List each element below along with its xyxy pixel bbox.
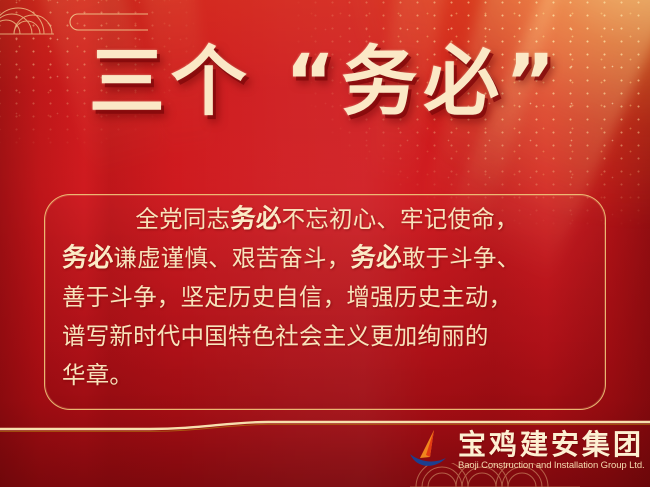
emphasis-wubi: 务必: [62, 243, 113, 273]
quote-line: 谱写新时代中国特色社会主义更加绚丽的: [62, 317, 592, 356]
emphasis-wubi: 务必: [350, 243, 401, 273]
emphasis-wubi: 务必: [230, 204, 281, 234]
logo-text-block: 宝鸡建安集团 Baoji Construction and Installati…: [458, 431, 645, 471]
sail-butterfly-logo-mark-icon: [408, 428, 450, 474]
quote-line: 务必谦虚谨慎、艰苦奋斗，务必敢于斗争、: [62, 239, 592, 278]
company-logo: 宝鸡建安集团 Baoji Construction and Installati…: [408, 428, 645, 474]
quote-body-text: 全党同志务必不忘初心、牢记使命， 务必谦虚谨慎、艰苦奋斗，务必敢于斗争、 善于斗…: [62, 200, 592, 395]
company-name-en: Baoji Construction and Installation Grou…: [458, 460, 645, 471]
quote-line: 全党同志务必不忘初心、牢记使命，: [62, 200, 592, 239]
quote-line: 华章。: [62, 356, 592, 395]
poster-title: 三个 “务必”: [0, 40, 650, 124]
company-name-cn: 宝鸡建安集团: [458, 431, 645, 459]
quote-line: 善于斗争，坚定历史自信，增强历史主动，: [62, 278, 592, 317]
poster-title-text: 三个 “务必”: [89, 37, 561, 126]
poster-canvas: 三个 “务必” 全党同志务必不忘初心、牢记使命， 务必谦虚谨慎、艰苦奋斗，务必敢…: [0, 0, 650, 487]
